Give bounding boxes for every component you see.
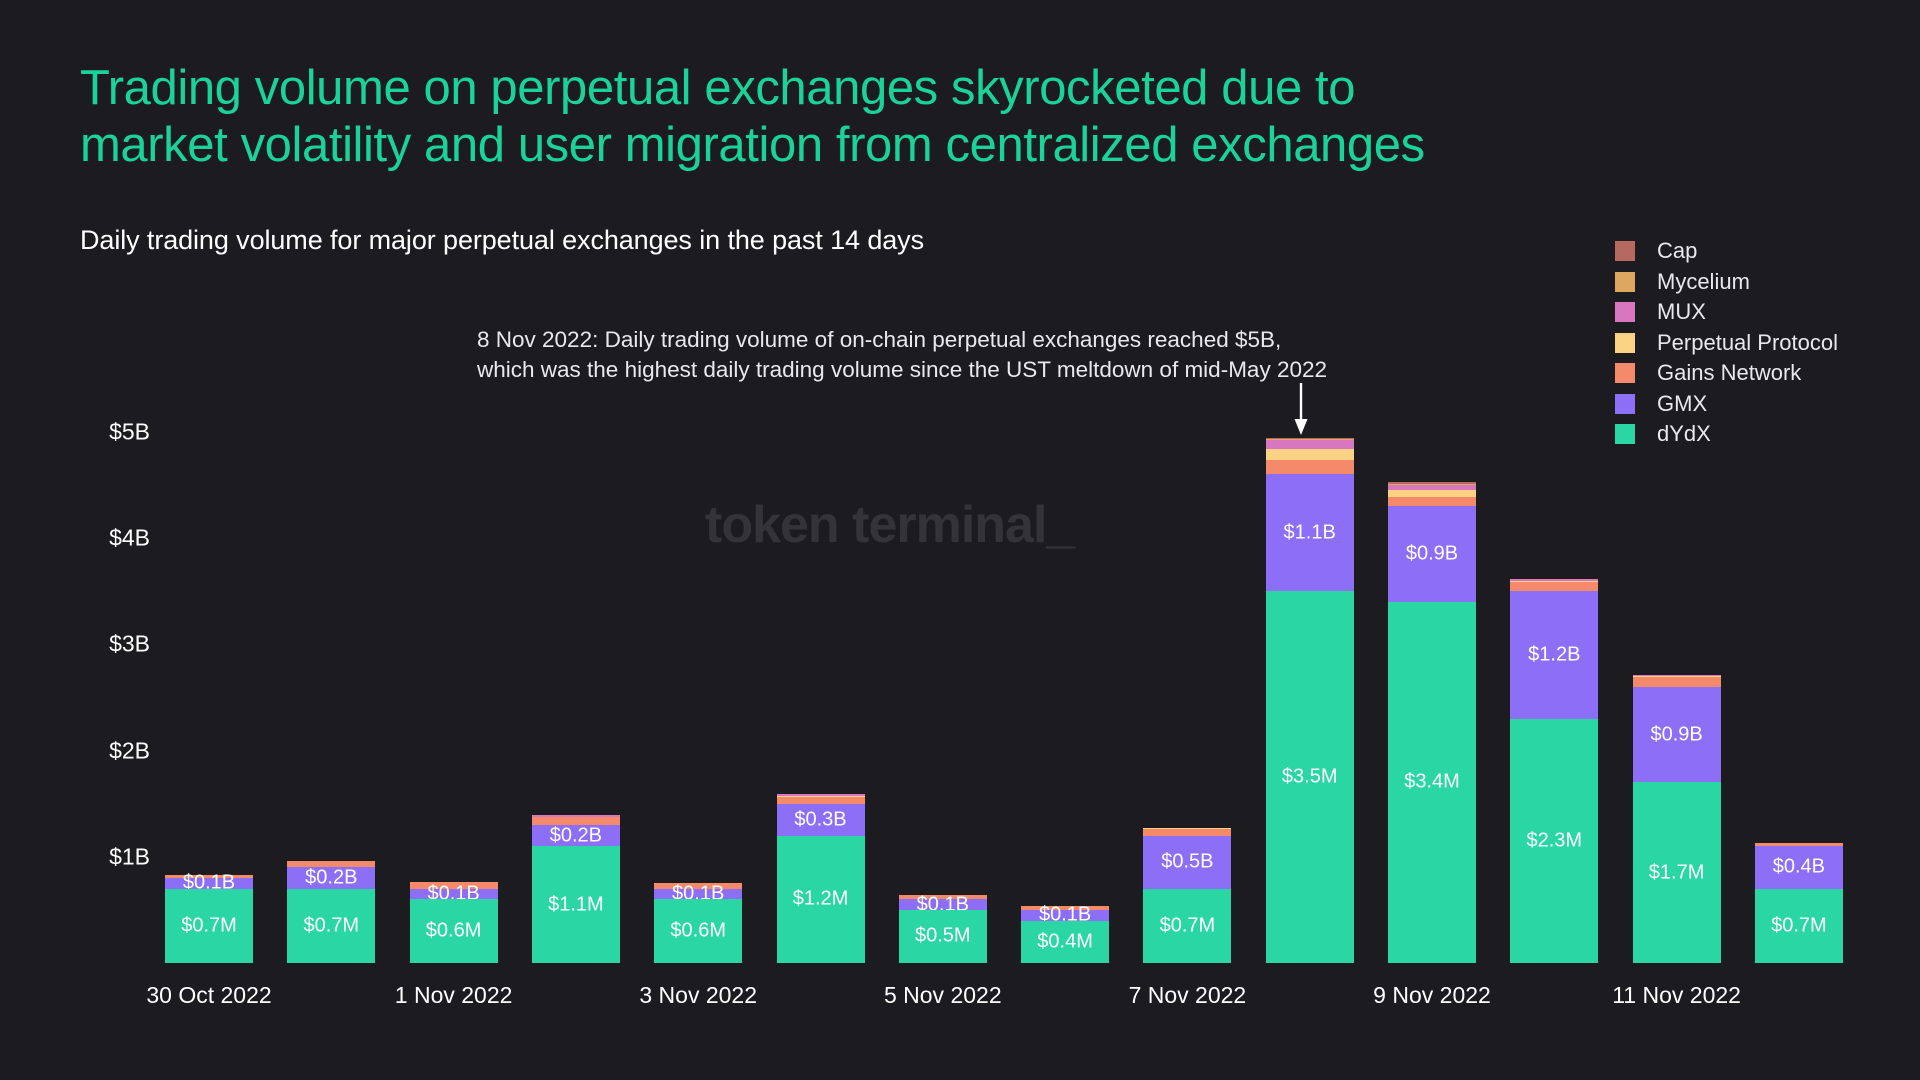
bar-segment[interactable] <box>532 817 620 824</box>
bar-segment[interactable]: $2.3M <box>1510 719 1598 963</box>
bar-column[interactable]: $0.1B$0.5M <box>899 895 987 963</box>
x-axis-tick-label: 30 Oct 2022 <box>146 982 271 1009</box>
bar-column[interactable]: $0.1B$0.4M <box>1021 906 1109 963</box>
bar-segment-label: $0.2B <box>287 867 375 890</box>
bar-segment[interactable]: $0.7M <box>287 889 375 963</box>
bar-segment[interactable]: $0.9B <box>1388 506 1476 602</box>
bar-segment[interactable]: $0.4M <box>1021 921 1109 964</box>
bar-segment-label: $0.4M <box>1021 930 1109 953</box>
bar-segment-label: $1.2M <box>777 888 865 911</box>
bar-segment[interactable]: $0.2B <box>532 825 620 846</box>
bar-segment-label: $3.5M <box>1266 766 1354 789</box>
bar-segment[interactable]: $0.9B <box>1633 687 1721 783</box>
bar-segment-label: $0.6M <box>410 920 498 943</box>
bar-column[interactable]: $0.9B$1.7M <box>1633 675 1721 963</box>
bar-column[interactable]: $0.9B$3.4M <box>1388 482 1476 963</box>
y-axis-tick-label: $4B <box>109 525 150 552</box>
bar-segment[interactable]: $3.5M <box>1266 591 1354 963</box>
bar-segment[interactable]: $3.4M <box>1388 602 1476 963</box>
y-axis-tick-label: $3B <box>109 631 150 658</box>
bar-segment-label: $1.1M <box>532 893 620 916</box>
bar-column[interactable]: $0.1B$0.6M <box>410 882 498 963</box>
bar-segment-label: $1.1B <box>1266 521 1354 544</box>
bar-segment[interactable] <box>1633 677 1721 687</box>
bar-segment-label: $0.9B <box>1388 542 1476 565</box>
bar-column[interactable]: $0.3B$1.2M <box>777 794 865 963</box>
bar-segment[interactable]: $0.1B <box>899 899 987 910</box>
y-axis-tick-label: $2B <box>109 737 150 764</box>
x-axis-tick-label: 7 Nov 2022 <box>1129 982 1247 1009</box>
x-axis-tick-label: 11 Nov 2022 <box>1612 982 1741 1009</box>
bar-segment-label: $0.7M <box>1143 914 1231 937</box>
bar-segment-label: $0.7M <box>1755 914 1843 937</box>
bar-segment[interactable]: $0.1B <box>654 889 742 900</box>
bar-segment-label: $0.3B <box>777 808 865 831</box>
bar-segment[interactable] <box>1266 449 1354 461</box>
x-axis-tick-label: 1 Nov 2022 <box>395 982 513 1009</box>
bar-segment[interactable]: $1.1M <box>532 846 620 963</box>
bar-segment[interactable]: $0.4B <box>1755 846 1843 889</box>
bar-segment[interactable]: $0.1B <box>165 878 253 889</box>
bar-segment[interactable] <box>1266 440 1354 449</box>
bar-segment[interactable] <box>1266 460 1354 474</box>
x-axis-tick-label: 9 Nov 2022 <box>1373 982 1491 1009</box>
bar-segment-label: $0.7M <box>165 914 253 937</box>
bar-column[interactable]: $0.5B$0.7M <box>1143 828 1231 963</box>
bar-segment[interactable]: $0.5M <box>899 910 987 963</box>
bar-column[interactable]: $0.2B$1.1M <box>532 815 620 963</box>
bar-column[interactable]: $1.1B$3.5M <box>1266 438 1354 963</box>
y-axis-tick-label: $1B <box>109 843 150 870</box>
bar-segment[interactable]: $1.2M <box>777 836 865 964</box>
x-axis-tick-label: 3 Nov 2022 <box>639 982 757 1009</box>
bar-segment[interactable] <box>1388 497 1476 507</box>
bar-segment[interactable]: $0.2B <box>287 867 375 888</box>
bar-segment-label: $0.5M <box>899 925 987 948</box>
bar-column[interactable]: $1.2B$2.3M <box>1510 579 1598 963</box>
y-axis-tick-label: $5B <box>109 418 150 445</box>
bar-segment-label: $1.2B <box>1510 643 1598 666</box>
bar-segment[interactable] <box>1510 582 1598 592</box>
bar-segment-label: $0.6M <box>654 920 742 943</box>
bar-segment[interactable]: $1.7M <box>1633 782 1721 963</box>
bar-segment-label: $3.4M <box>1388 771 1476 794</box>
bar-segment[interactable]: $0.5B <box>1143 836 1231 889</box>
bar-segment[interactable]: $0.7M <box>1143 889 1231 963</box>
bar-segment[interactable]: $0.1B <box>410 889 498 900</box>
bar-segment[interactable]: $0.6M <box>654 899 742 963</box>
chart-page: Trading volume on perpetual exchanges sk… <box>0 0 1920 1080</box>
bar-segment-label: $1.7M <box>1633 861 1721 884</box>
bar-segment-label: $0.9B <box>1633 723 1721 746</box>
bar-segment-label: $0.4B <box>1755 856 1843 879</box>
bar-segment[interactable]: $0.1B <box>1021 910 1109 921</box>
bar-segment-label: $0.2B <box>532 824 620 847</box>
bar-segment[interactable]: $1.2B <box>1510 591 1598 719</box>
bar-segment-label: $0.7M <box>287 914 375 937</box>
bar-column[interactable]: $0.1B$0.7M <box>165 875 253 963</box>
bar-segment[interactable]: $0.6M <box>410 899 498 963</box>
bar-segment[interactable]: $0.7M <box>165 889 253 963</box>
chart-plot-area: $1B$2B$3B$4B$5B$0.1B$0.7M$0.2B$0.7M$0.1B… <box>0 0 1920 1080</box>
bar-segment[interactable]: $0.3B <box>777 804 865 836</box>
bar-segment-label: $0.5B <box>1143 851 1231 874</box>
bar-column[interactable]: $0.4B$0.7M <box>1755 843 1843 963</box>
bar-column[interactable]: $0.2B$0.7M <box>287 861 375 963</box>
bar-column[interactable]: $0.1B$0.6M <box>654 883 742 963</box>
bar-segment[interactable]: $0.7M <box>1755 889 1843 963</box>
x-axis-tick-label: 5 Nov 2022 <box>884 982 1002 1009</box>
bar-segment[interactable]: $1.1B <box>1266 474 1354 591</box>
bar-segment-label: $2.3M <box>1510 829 1598 852</box>
